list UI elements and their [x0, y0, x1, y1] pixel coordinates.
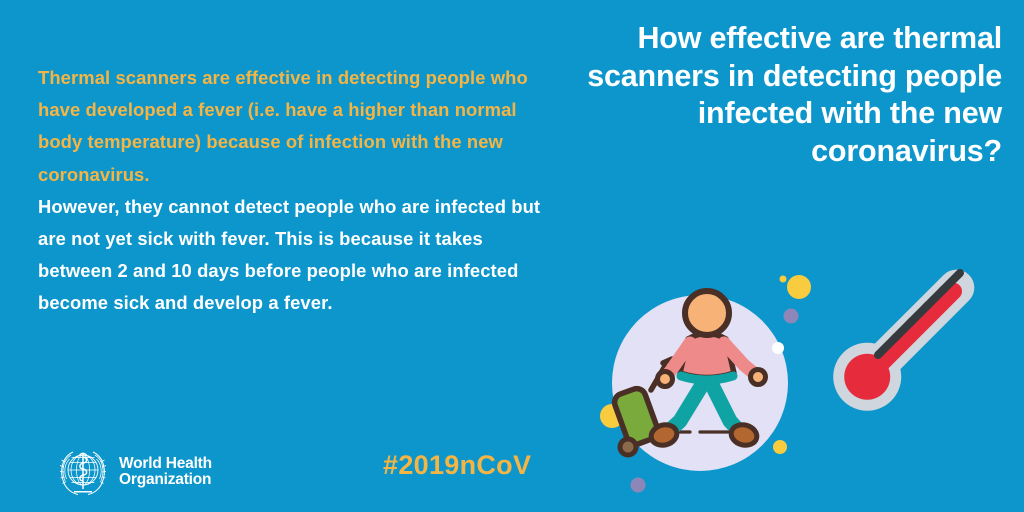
dot-yellow-small-top [780, 276, 787, 283]
who-infographic-poster: Thermal scanners are effective in detect… [0, 0, 1024, 512]
who-logo: World Health Organization [56, 447, 212, 497]
body-text-column: Thermal scanners are effective in detect… [38, 62, 553, 320]
dot-white [772, 342, 784, 354]
dot-purple-bottom [631, 478, 646, 493]
page-title: How effective are thermal scanners in de… [566, 20, 1002, 170]
who-emblem-icon [56, 447, 110, 497]
who-wordmark-text: World Health Organization [119, 456, 212, 489]
dot-yellow-bottom-right [773, 440, 787, 454]
paragraph-effective-detection: Thermal scanners are effective in detect… [38, 62, 553, 191]
illustration-area [580, 235, 1024, 512]
hashtag-label: #2019nCoV [383, 450, 531, 481]
thermometer-icon [819, 251, 993, 425]
dot-yellow-large-top [787, 275, 811, 299]
dot-purple-top [784, 309, 799, 324]
paragraph-limitation: However, they cannot detect people who a… [38, 191, 553, 320]
